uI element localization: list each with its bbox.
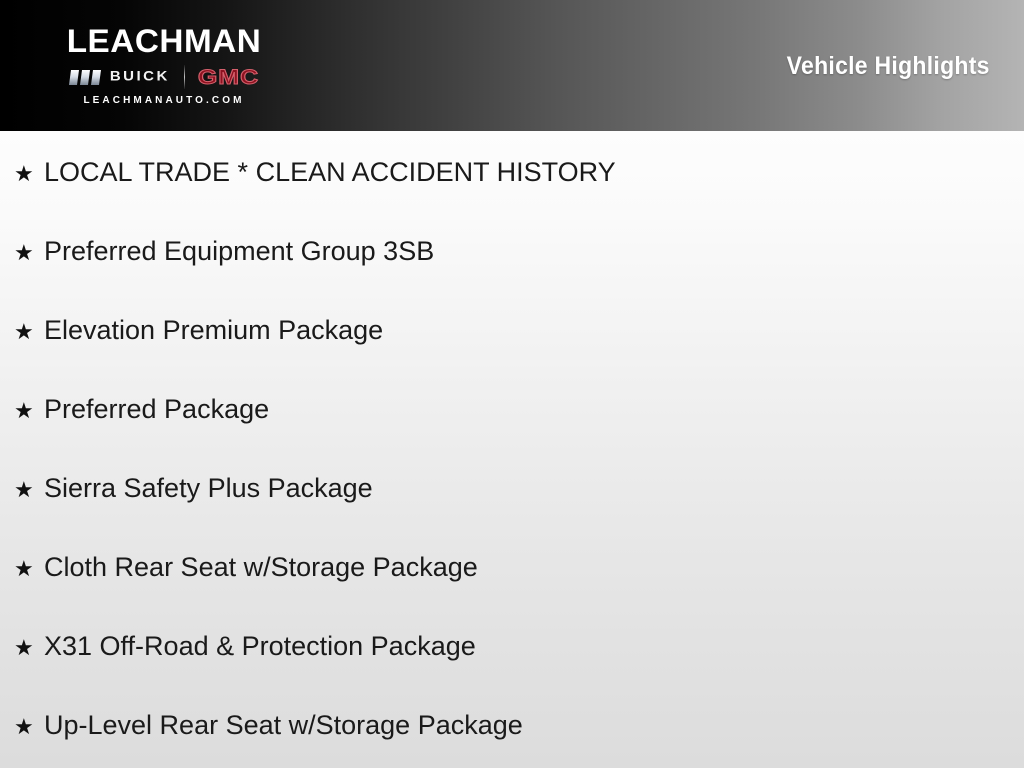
star-bullet-icon: ★ [14,634,44,662]
star-bullet-icon: ★ [14,555,44,583]
dealer-logo[interactable]: Leachman Buick GMC [24,12,304,120]
brand-row: Buick GMC [24,64,304,90]
buick-wordmark: Buick [110,69,170,86]
star-bullet-icon: ★ [14,397,44,425]
list-item: ★Elevation Premium Package [0,316,1024,395]
star-bullet-icon: ★ [14,476,44,504]
page-title: Vehicle Highlights [787,52,990,80]
buick-tri-shield-icon [69,69,103,86]
star-bullet-icon: ★ [14,318,44,346]
list-item: ★Preferred Package [0,395,1024,474]
brand-divider-icon [184,65,185,89]
list-item: ★Cloth Rear Seat w/Storage Package [0,553,1024,632]
list-item: ★X31 Off-Road & Protection Package [0,632,1024,711]
highlight-text: Cloth Rear Seat w/Storage Package [44,553,478,581]
highlight-text: Up-Level Rear Seat w/Storage Package [44,711,523,739]
page-header: Leachman Buick GMC [0,0,1024,131]
list-item: ★Preferred Equipment Group 3SB [0,237,1024,316]
vehicle-highlights-page: Leachman Buick GMC [0,0,1024,768]
highlight-text: Sierra Safety Plus Package [44,474,373,502]
list-item: ★Sierra Safety Plus Package [0,474,1024,553]
highlight-text: Preferred Package [44,395,269,423]
highlights-panel: ★LOCAL TRADE * CLEAN ACCIDENT HISTORY★Pr… [0,131,1024,768]
dealer-wordmark: Leachman [18,12,309,60]
highlight-text: LOCAL TRADE * CLEAN ACCIDENT HISTORY [44,158,616,186]
highlight-text: Elevation Premium Package [44,316,383,344]
star-bullet-icon: ★ [14,239,44,267]
gmc-wordmark: GMC [198,66,259,88]
vehicle-highlights-list: ★LOCAL TRADE * CLEAN ACCIDENT HISTORY★Pr… [0,131,1024,768]
star-bullet-icon: ★ [14,713,44,741]
highlight-text: Preferred Equipment Group 3SB [44,237,434,265]
list-item: ★LOCAL TRADE * CLEAN ACCIDENT HISTORY [0,131,1024,237]
highlight-text: X31 Off-Road & Protection Package [44,632,476,660]
star-bullet-icon: ★ [14,160,44,188]
dealer-website-url[interactable]: LEACHMANAUTO.COM [24,95,304,106]
list-item: ★Up-Level Rear Seat w/Storage Package [0,711,1024,768]
